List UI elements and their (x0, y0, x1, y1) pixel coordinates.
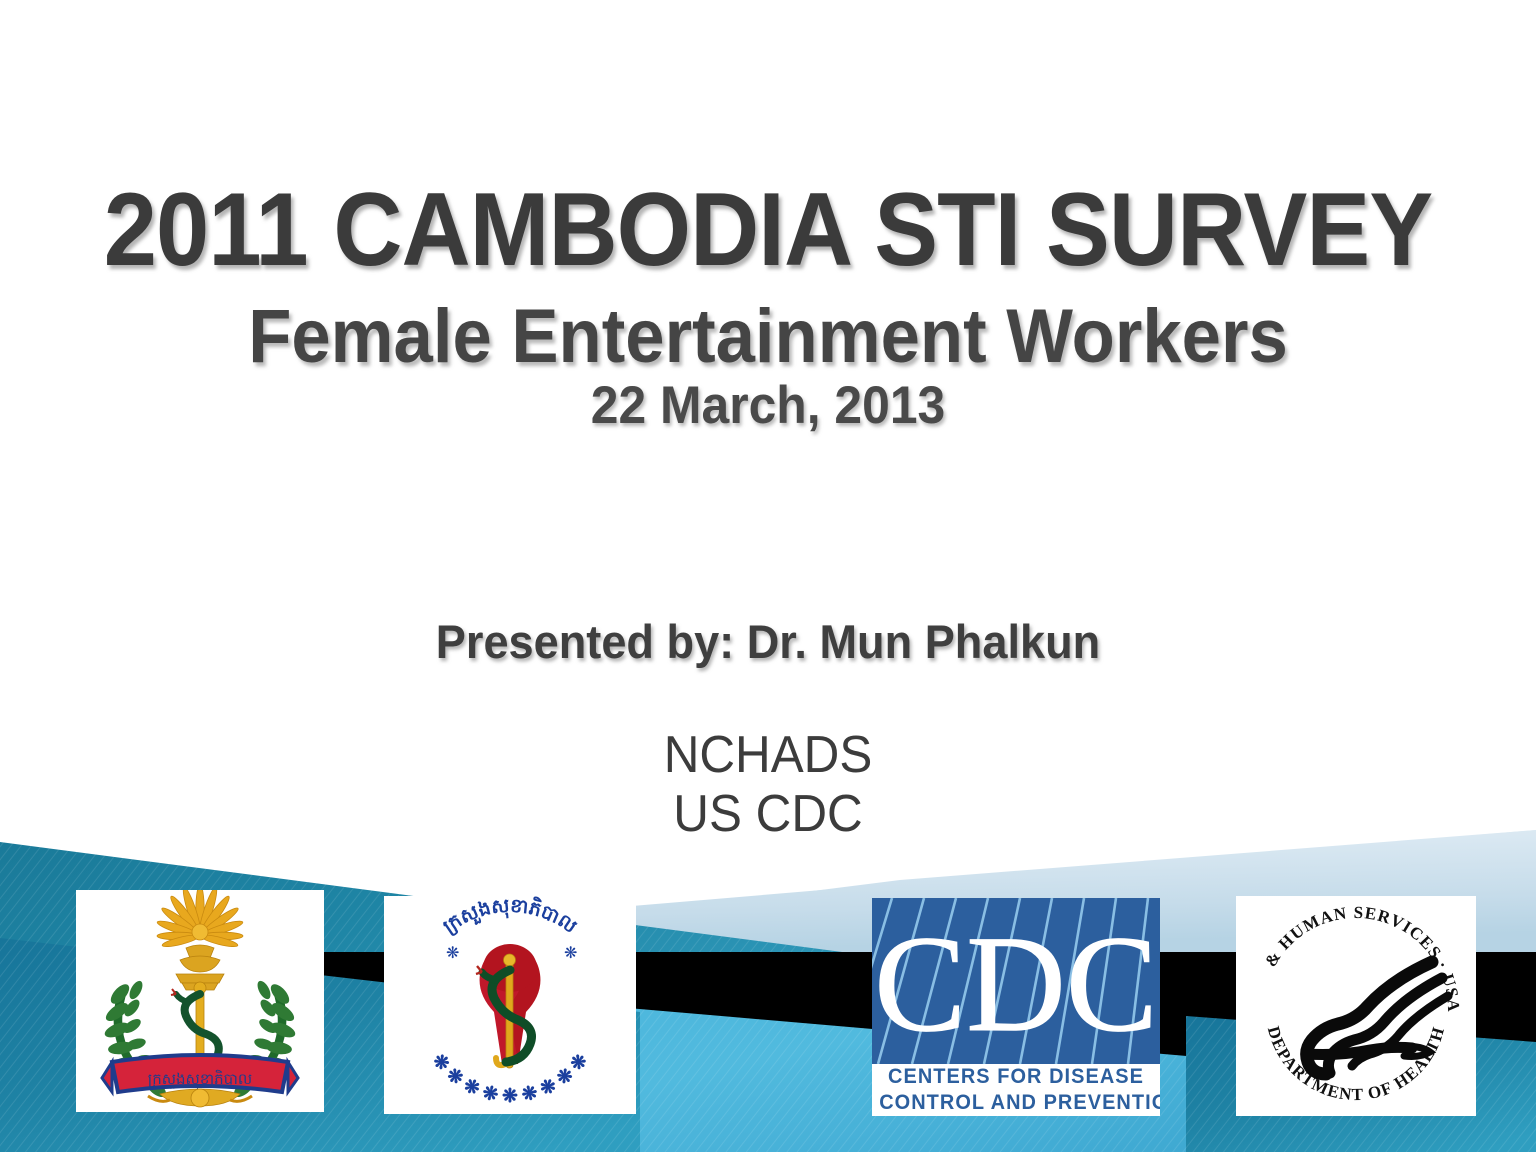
ribbon-banner: ក្រសួងសុខាភិបាល (102, 1055, 298, 1092)
organization-item-us-cdc: US CDC (38, 785, 1497, 844)
presentation-date: 22 March, 2013 (46, 377, 1490, 435)
hhs-logo: & HUMAN SERVICES · USA DEPARTMENT OF HEA… (1236, 896, 1476, 1116)
svg-text:❋: ❋ (446, 945, 459, 962)
cdc-caption-line2: CONTROL AND PREVENTION (879, 1090, 1153, 1116)
cdc-caption-line1: CENTERS FOR DISEASE (879, 1064, 1153, 1090)
presentation-slide: ក្រសួងសុខាភិបាល ក្រសួងសុខាភិបាល (0, 0, 1536, 1152)
cdc-blue-box: CDC (872, 898, 1160, 1064)
nchads-emblem: ក្រសួងសុខាភិបាល ❋ ❋ ❋ ❋ ❋ ❋ ❋ ❋ ❋ ❋ ❋ (384, 896, 636, 1114)
cambodia-ministry-of-health-emblem: ក្រសួងសុខាភិបាល (76, 890, 324, 1112)
svg-text:❋: ❋ (564, 945, 577, 962)
organization-item-nchads: NCHADS (38, 726, 1497, 785)
page-title: 2011 CAMBODIA STI SURVEY (61, 176, 1474, 284)
cdc-wordmark-text: CDC (874, 907, 1158, 1060)
cdc-caption: CENTERS FOR DISEASE CONTROL AND PREVENTI… (872, 1064, 1160, 1116)
presenter-line: Presented by: Dr. Mun Phalkun (31, 614, 1506, 669)
ribbon-khmer-text: ក្រសួងសុខាភិបាល (148, 1069, 252, 1089)
page-subtitle: Female Entertainment Workers (54, 297, 1482, 378)
organization-list: NCHADS US CDC (38, 726, 1497, 845)
cdc-logo: CDC CENTERS FOR DISEASE CONTROL AND PREV… (872, 898, 1160, 1116)
logo-strip: ក្រសួងសុខាភិបាល ក្រសួងសុខាភិបាល (0, 820, 1536, 1152)
